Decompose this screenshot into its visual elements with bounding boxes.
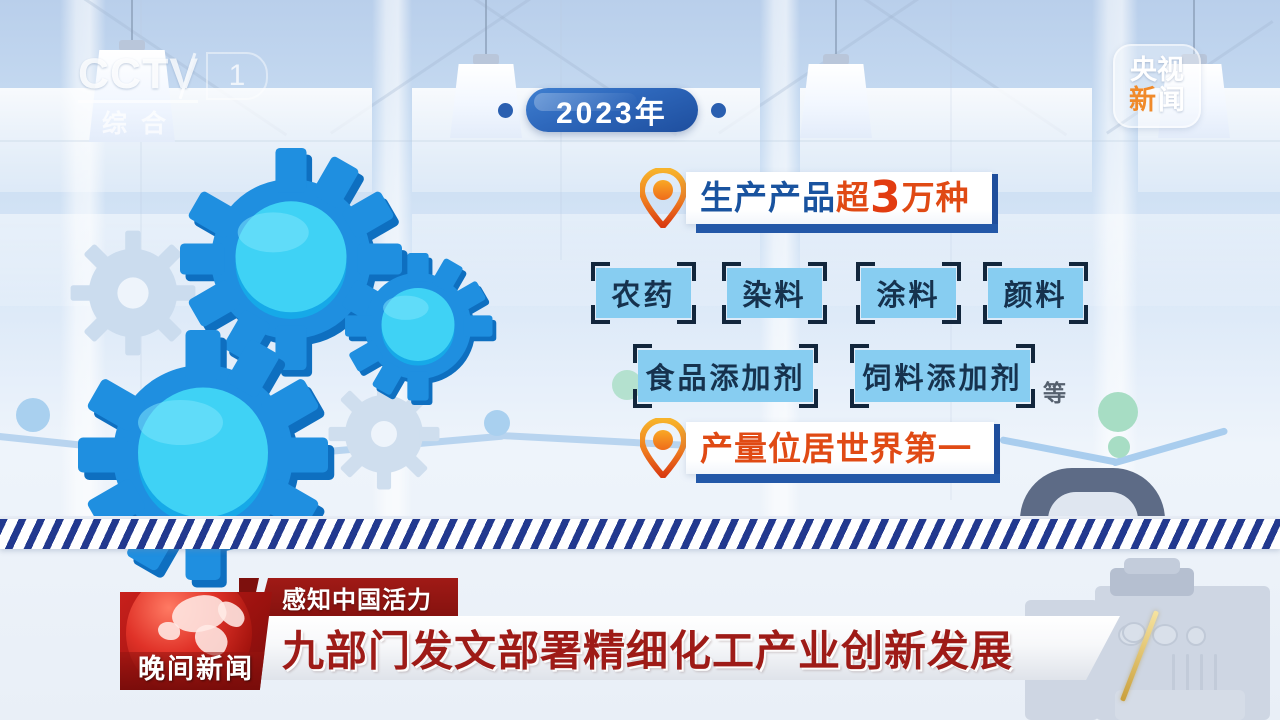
tag-label: 农药 xyxy=(611,272,675,314)
tag-chip: 饲料添加剂 xyxy=(855,350,1030,402)
tag-label: 涂料 xyxy=(876,272,940,314)
bullet-output: 产量位居世界第一 xyxy=(640,418,994,478)
machine-panel xyxy=(1115,690,1245,720)
machine-dial xyxy=(1152,624,1178,646)
lamp-cord xyxy=(835,0,837,56)
bar-right-edge xyxy=(994,424,1000,476)
chart-node xyxy=(16,398,50,432)
bracket-top-right xyxy=(1016,344,1035,363)
news-logo-text-white: 闻 xyxy=(1158,87,1185,115)
tag-label: 染料 xyxy=(742,272,806,314)
news-logo-line-2: 新 闻 xyxy=(1129,87,1185,115)
bullet-seg-2: 3 xyxy=(870,172,902,223)
cctv-channel-logo: CCTV 1 综合 xyxy=(78,50,258,138)
tag-chip: 颜料 xyxy=(988,268,1083,318)
tag-label: 食品添加剂 xyxy=(645,355,805,397)
kicker-text: 感知中国活力 xyxy=(282,580,432,615)
tag-chip: 染料 xyxy=(727,268,822,318)
machine-dial xyxy=(1186,626,1206,646)
pendant-lamp xyxy=(800,0,872,140)
bracket-bottom-right xyxy=(1016,389,1035,408)
window-mullion xyxy=(0,140,1280,142)
year-dot-right xyxy=(711,103,726,118)
year-dot-left xyxy=(498,103,513,118)
bullet-output-bar: 产量位居世界第一 xyxy=(686,422,994,474)
broadcast-screenshot: CCTV 1 综合 央视 新 闻 2023年 xyxy=(0,0,1280,720)
bracket-top-left xyxy=(983,262,1002,281)
chart-node xyxy=(484,410,510,436)
chart-node xyxy=(1108,436,1130,458)
bullet-output-text: 产量位居世界第一 xyxy=(700,432,972,465)
bullet-seg-1: 超 xyxy=(836,178,870,217)
bullet-products-bar: 生产产品超3万种 xyxy=(686,172,992,224)
bracket-bottom-right xyxy=(677,305,696,324)
tag-label: 饲料添加剂 xyxy=(862,355,1022,397)
bar-underline xyxy=(696,224,998,233)
bracket-bottom-left xyxy=(856,305,875,324)
bracket-bottom-left xyxy=(591,305,610,324)
striped-divider xyxy=(0,519,1280,549)
tag-label: 颜料 xyxy=(1003,272,1067,314)
bracket-top-left xyxy=(850,344,869,363)
bracket-bottom-left xyxy=(983,305,1002,324)
program-badge: 晚间新闻 xyxy=(120,592,272,690)
logo-rule xyxy=(78,100,198,103)
headline-text: 九部门发文部署精细化工产业创新发展 xyxy=(282,618,1013,679)
bullet-products-text: 生产产品超3万种 xyxy=(700,176,970,220)
tag-chip: 食品添加剂 xyxy=(638,350,813,402)
lamp-cord xyxy=(485,0,487,56)
bracket-bottom-right xyxy=(799,389,818,408)
lamp-cap xyxy=(473,54,499,65)
bracket-bottom-right xyxy=(942,305,961,324)
year-text: 2023年 xyxy=(556,88,668,132)
news-logo-text-top: 央视 xyxy=(1130,57,1184,85)
bullet-products: 生产产品超3万种 xyxy=(640,168,992,228)
bracket-top-left xyxy=(633,344,652,363)
tag-chip: 农药 xyxy=(596,268,691,318)
year-pill: 2023年 xyxy=(526,88,698,132)
bracket-top-right xyxy=(1069,262,1088,281)
bracket-top-left xyxy=(722,262,741,281)
news-logo-text-orange: 新 xyxy=(1129,87,1156,115)
kicker-bar: 感知中国活力 xyxy=(258,578,458,616)
bracket-top-right xyxy=(942,262,961,281)
gear-medium-right xyxy=(342,250,494,402)
location-pin-icon xyxy=(640,418,686,478)
cctv-news-logo: 央视 新 闻 xyxy=(1113,44,1201,128)
bullet-seg-3: 万种 xyxy=(902,178,970,217)
bullet-seg-0: 生产产品 xyxy=(700,178,836,217)
news-logo-line-1: 央视 xyxy=(1130,57,1184,85)
bar-right-edge xyxy=(992,174,998,226)
lamp-cord xyxy=(131,0,133,42)
chart-node xyxy=(1098,392,1138,432)
program-badge-label: 晚间新闻 xyxy=(120,647,272,686)
bracket-bottom-left xyxy=(722,305,741,324)
lamp-cap xyxy=(823,54,849,65)
bracket-top-left xyxy=(591,262,610,281)
bar-underline xyxy=(696,474,1000,483)
bracket-top-right xyxy=(808,262,827,281)
machine-cap xyxy=(1124,558,1180,574)
channel-name: 综合 xyxy=(102,104,180,140)
bracket-bottom-right xyxy=(1069,305,1088,324)
lamp-shade xyxy=(800,64,872,138)
channel-number-badge: 1 xyxy=(206,52,268,100)
bracket-top-left xyxy=(856,262,875,281)
bracket-bottom-right xyxy=(808,305,827,324)
year-label-group: 2023年 xyxy=(498,88,726,132)
globe-landmass xyxy=(158,622,180,640)
bracket-top-right xyxy=(799,344,818,363)
bracket-top-right xyxy=(677,262,696,281)
location-pin-icon xyxy=(640,168,686,228)
headline-bar: 九部门发文部署精细化工产业创新发展 xyxy=(258,616,1120,680)
tags-suffix: 等 xyxy=(1043,374,1066,408)
bracket-bottom-left xyxy=(633,389,652,408)
channel-number: 1 xyxy=(229,59,246,93)
bracket-bottom-left xyxy=(850,389,869,408)
tag-chip: 涂料 xyxy=(861,268,956,318)
